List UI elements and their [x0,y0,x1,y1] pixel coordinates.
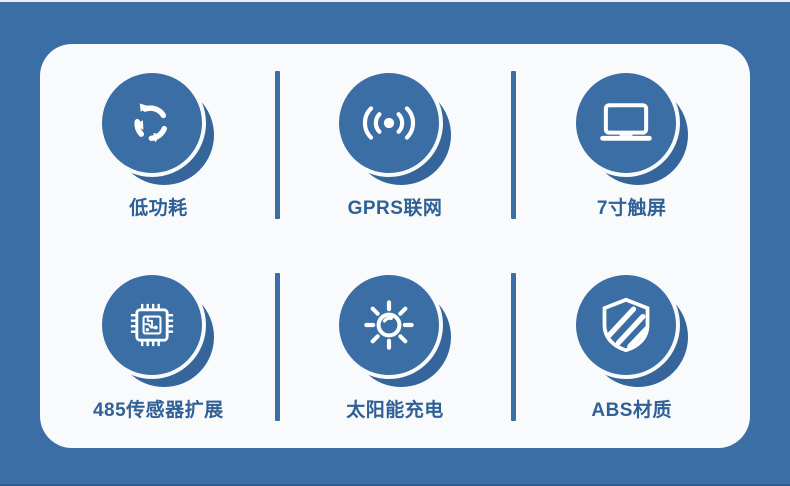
feature-grid: 低功耗 [40,44,750,448]
feature-label: 7寸触屏 [597,199,667,218]
wireless-signal-icon [339,73,439,173]
feature-item-touchscreen[interactable]: 7寸触屏 [513,44,750,246]
feature-item-rs485-sensor[interactable]: 485传感器扩展 [40,246,277,448]
feature-label: 485传感器扩展 [93,401,224,420]
feature-item-gprs-network[interactable]: GPRS联网 [277,44,514,246]
laptop-screen-icon [576,73,676,173]
icon-badge [102,275,214,387]
feature-label: ABS材质 [591,401,672,420]
icon-badge [102,73,214,185]
feature-item-low-power[interactable]: 低功耗 [40,44,277,246]
icon-badge [339,73,451,185]
feature-label: 太阳能充电 [346,401,444,420]
feature-item-abs-material[interactable]: ABS材质 [513,246,750,448]
feature-card: 低功耗 [40,44,750,448]
recycle-arrows-icon [102,73,202,173]
icon-badge [576,275,688,387]
shield-icon [576,275,676,375]
feature-highlights-banner: 低功耗 [0,0,790,486]
feature-label: GPRS联网 [348,199,443,218]
feature-item-solar-charging[interactable]: 太阳能充电 [277,246,514,448]
sun-icon [339,275,439,375]
icon-badge [576,73,688,185]
feature-label: 低功耗 [129,199,188,218]
icon-badge [339,275,451,387]
microchip-icon [102,275,202,375]
